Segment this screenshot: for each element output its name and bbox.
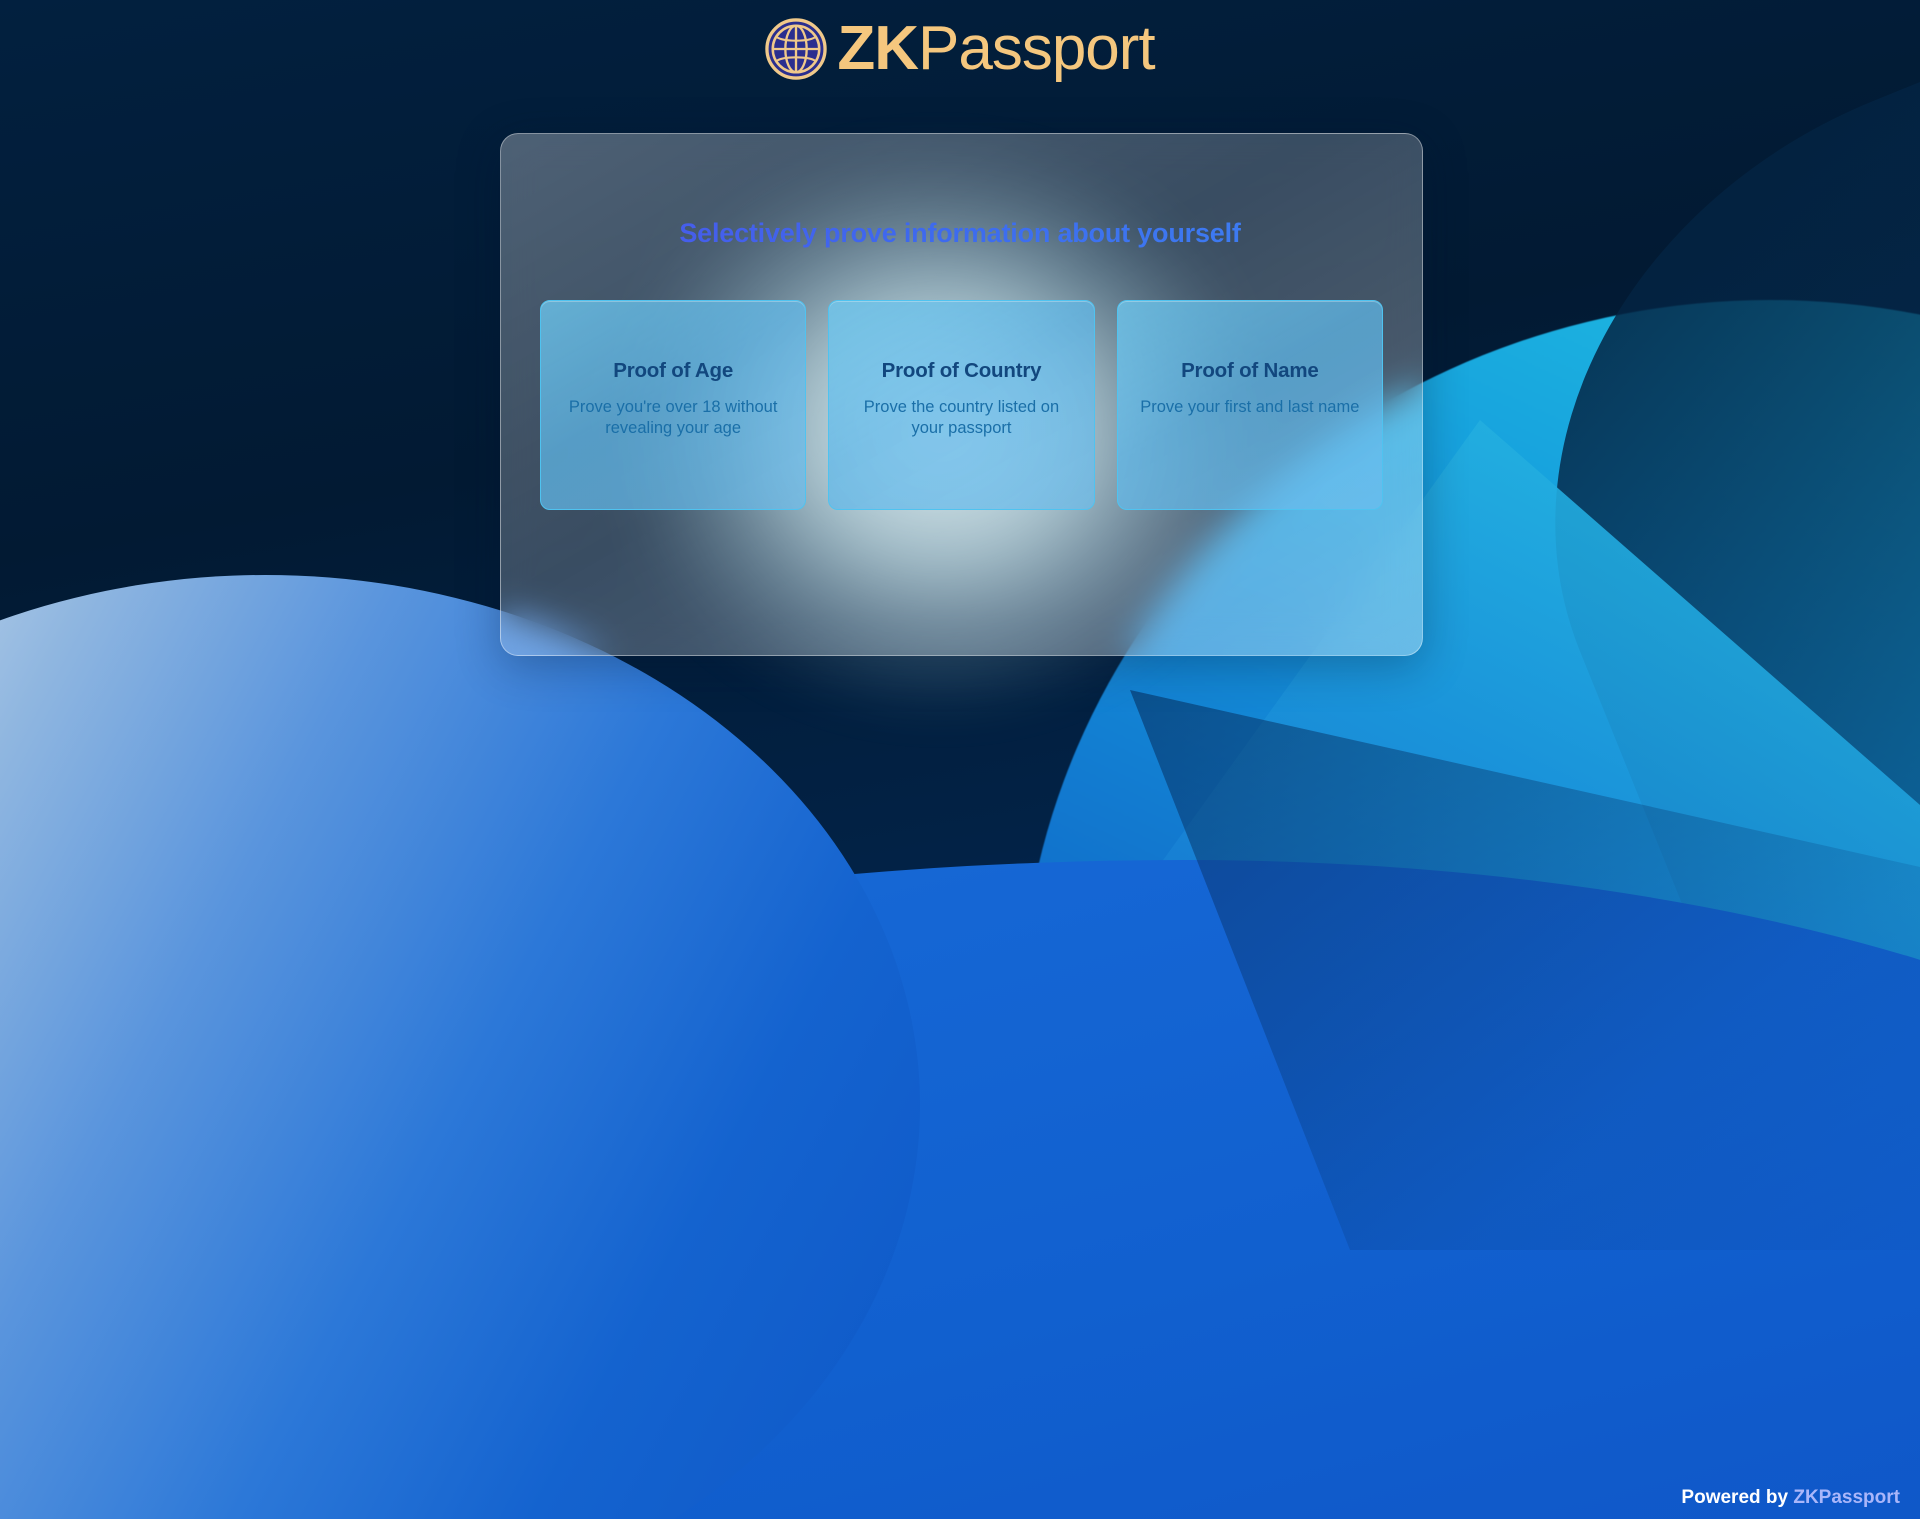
proof-card-description: Prove you're over 18 without revealing y…: [561, 397, 786, 439]
footer-powered-by-label: Powered by: [1681, 1487, 1788, 1508]
logo-wordmark: ZKPassport: [837, 18, 1154, 80]
footer-attribution: Powered by ZKPassport: [1681, 1487, 1900, 1509]
proof-card-title: Proof of Country: [882, 359, 1042, 383]
globe-icon: [765, 18, 827, 80]
proof-card-name[interactable]: Proof of Name Prove your first and last …: [1117, 300, 1383, 510]
proof-card-title: Proof of Name: [1181, 359, 1319, 383]
logo-wordmark-passport: Passport: [918, 14, 1155, 83]
proof-card-age[interactable]: Proof of Age Prove you're over 18 withou…: [540, 300, 806, 510]
proof-options-list: Proof of Age Prove you're over 18 withou…: [540, 300, 1383, 510]
proof-card-description: Prove the country listed on your passpor…: [849, 397, 1074, 439]
proof-card-title: Proof of Age: [613, 359, 733, 383]
background-shape-left-ellipse: [0, 575, 920, 1519]
app-logo: ZKPassport: [0, 18, 1920, 80]
proof-card-description: Prove your first and last name: [1140, 397, 1359, 418]
logo-wordmark-zk: ZK: [837, 14, 918, 83]
footer-brand-link[interactable]: ZKPassport: [1793, 1487, 1900, 1508]
proof-card-country[interactable]: Proof of Country Prove the country liste…: [828, 300, 1094, 510]
